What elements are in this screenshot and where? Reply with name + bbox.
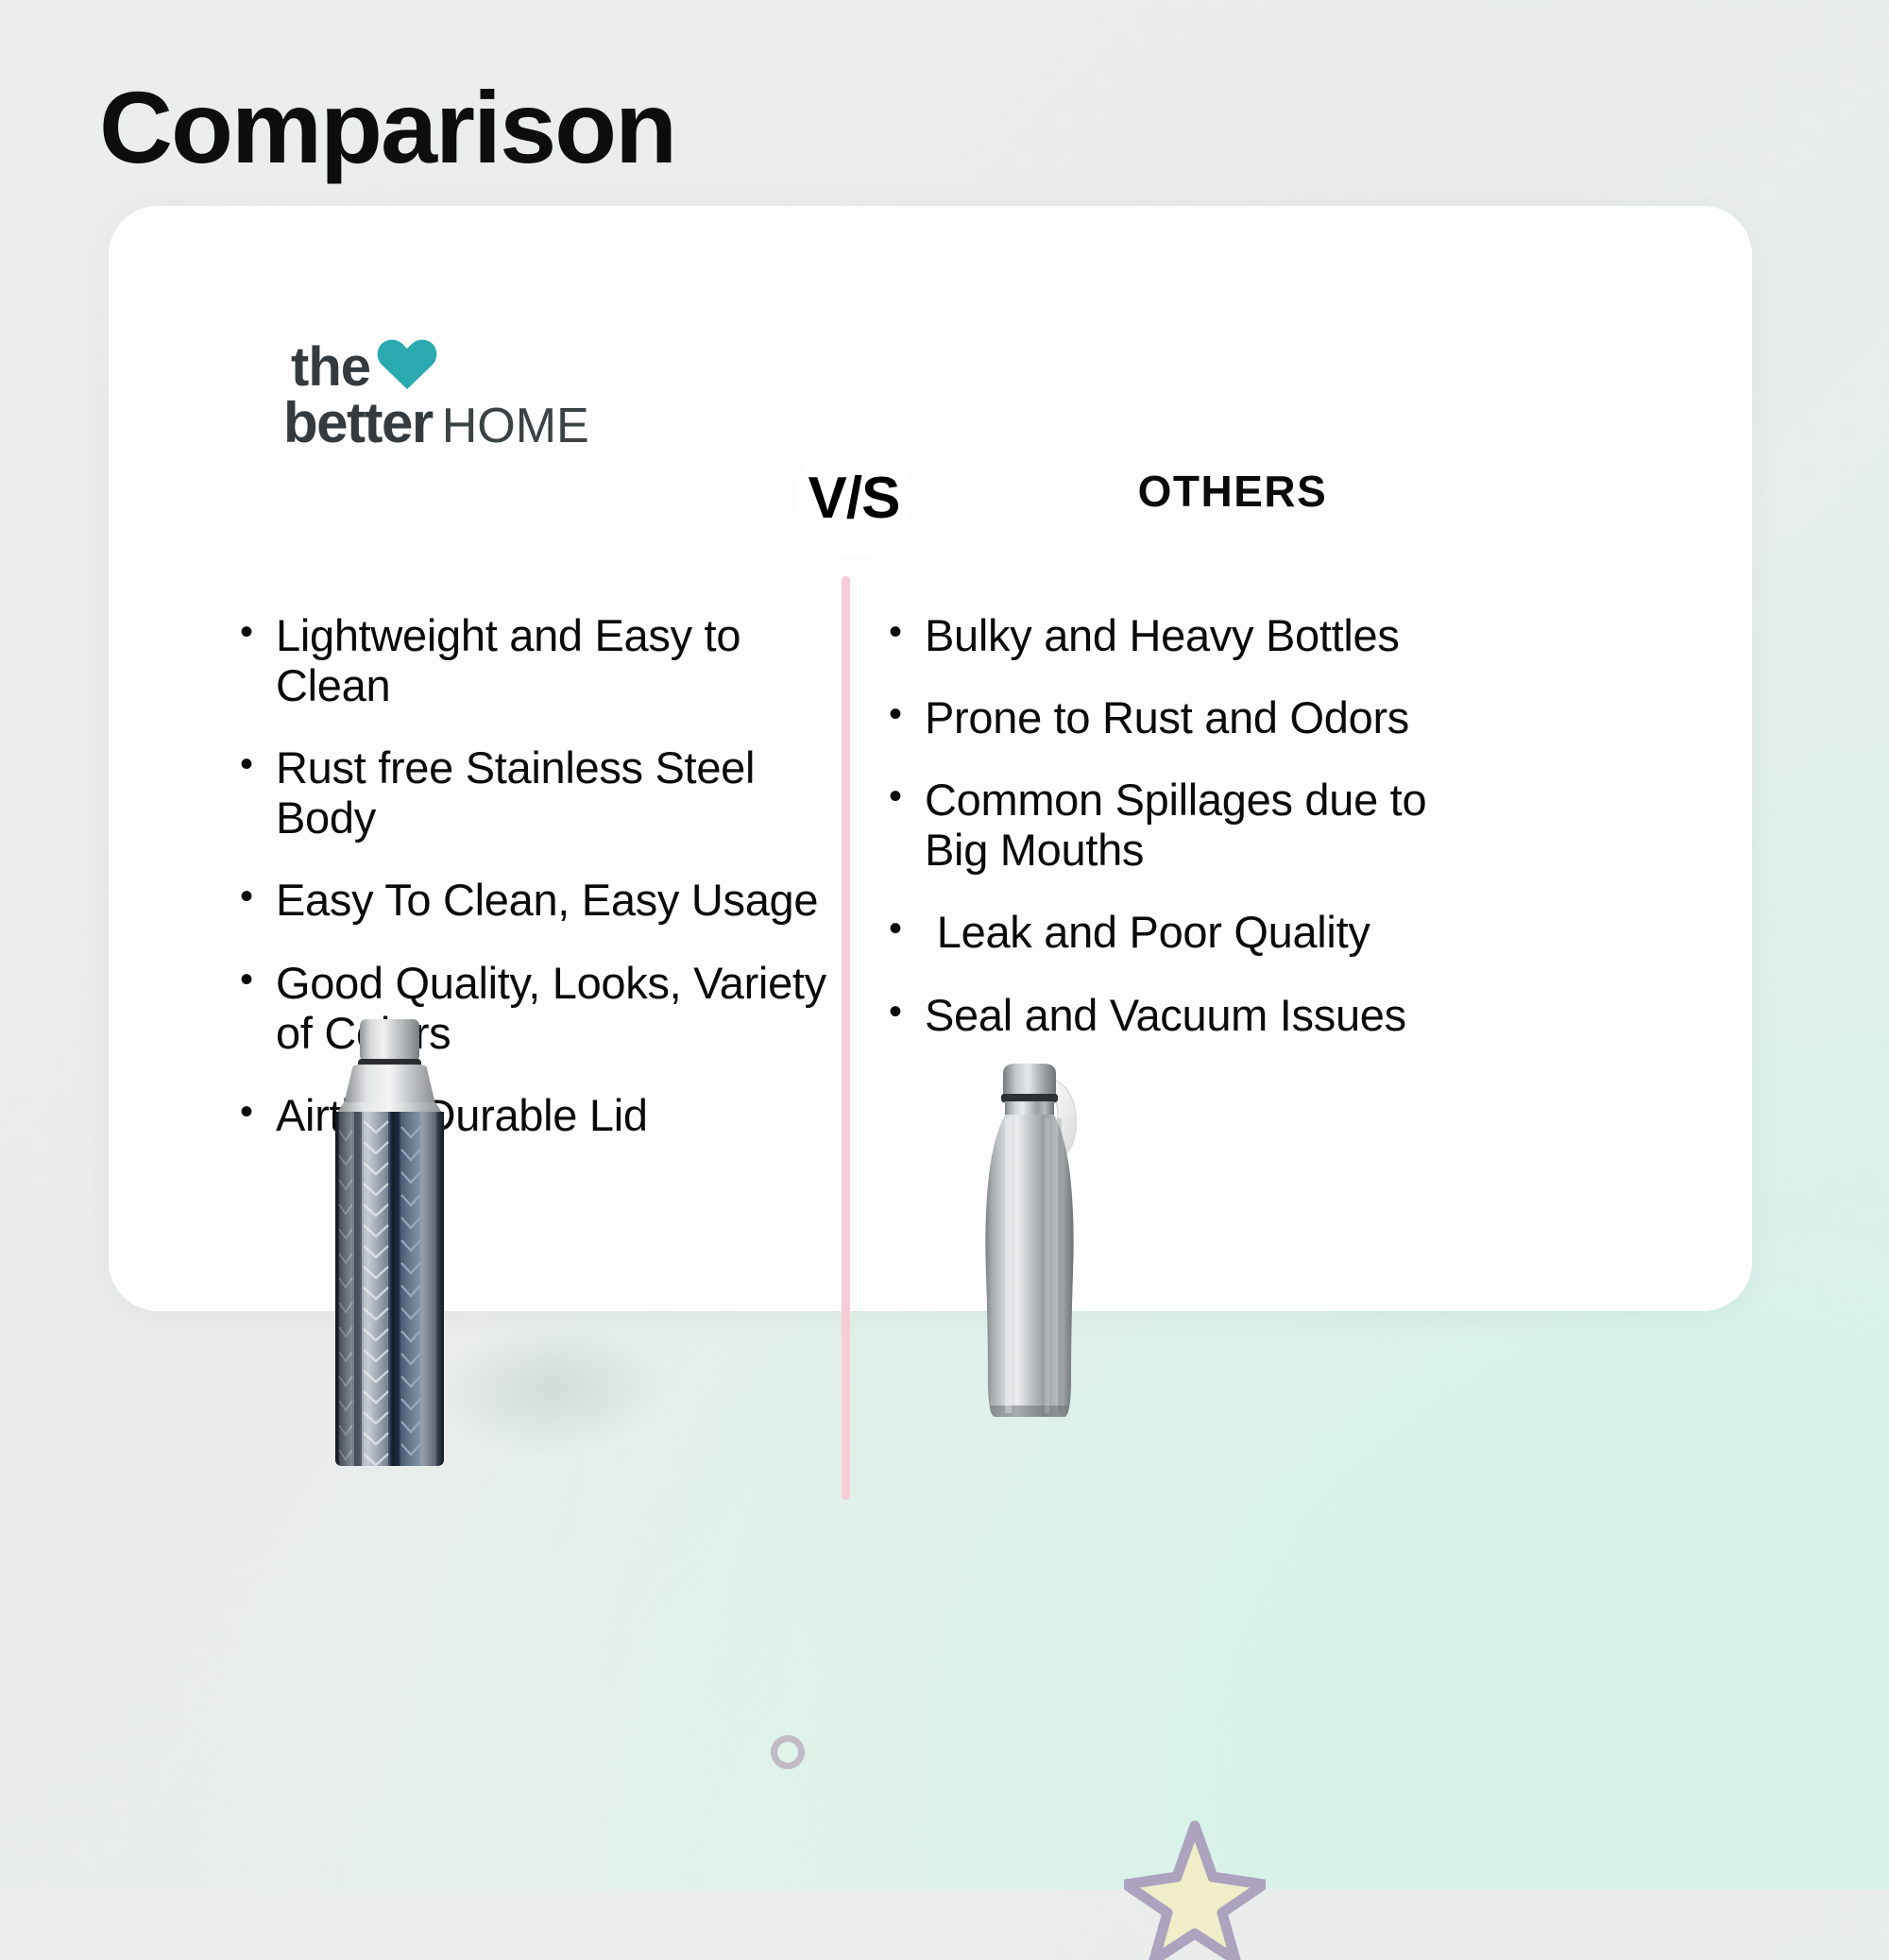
list-item: Easy To Clean, Easy Usage [236,875,841,925]
decorative-ring [771,1735,805,1769]
left-bottle-shadow [430,1314,674,1462]
versus-label: V/S [808,465,900,532]
heart-icon [376,335,438,390]
versus-badge: V/S [794,438,913,557]
others-feature-list: Bulky and Heavy Bottles Prone to Rust an… [885,610,1452,1072]
list-item: Common Spillages due to Big Mouths [885,775,1452,875]
list-item: Bulky and Heavy Bottles [885,610,1452,660]
list-item: Seal and Vacuum Issues [885,990,1452,1040]
logo-the-text: the [291,341,370,393]
patterned-bottle-image [326,1017,453,1466]
decorative-star [1124,1818,1266,1960]
brand-logo: the better HOME [283,338,680,452]
logo-bottom-row: better HOME [283,395,680,452]
list-item: Lightweight and Easy to Clean [236,610,841,710]
list-item: Leak and Poor Quality [885,907,1452,957]
list-item: Rust free Stainless Steel Body [236,742,841,843]
others-column-title: OTHERS [1091,466,1374,517]
list-item: Prone to Rust and Odors [885,692,1452,742]
plain-steel-bottle-image [971,1060,1122,1428]
page-title: Comparison [99,74,675,180]
logo-top-row: the [291,338,680,393]
logo-better-text: better [283,395,433,452]
column-divider [842,576,850,1500]
logo-home-text: HOME [442,401,589,451]
